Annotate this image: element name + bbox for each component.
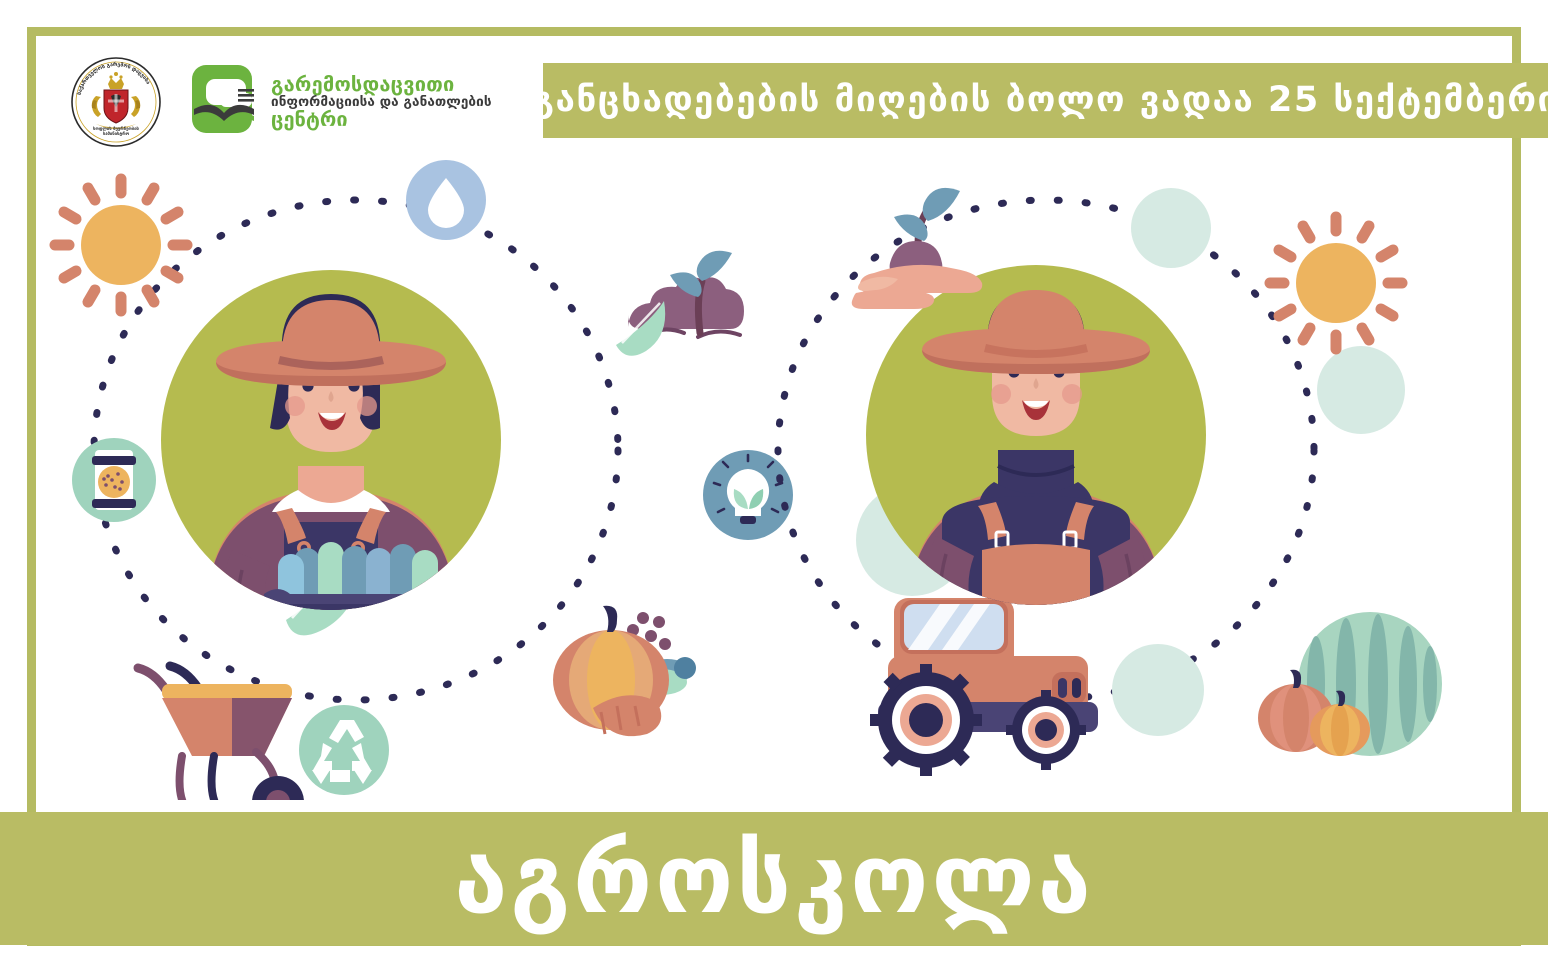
left-scene [55,160,793,800]
logo-line-3: ცენტრი [271,109,492,130]
poster-root: საქართველოს გარემოს დაცვისა სო [0,0,1548,973]
left-recycle-icon [299,705,389,795]
mint-circle-4 [1112,644,1204,736]
right-tractor-icon [870,598,1098,776]
title-banner: აგროსკოლა [0,812,1548,945]
right-hand-seedling-icon [852,188,982,309]
mint-circle-2 [1131,188,1211,268]
right-scene [778,188,1442,776]
right-sun-icon [1270,217,1402,349]
deadline-text: განცხადებების მიღების ბოლო ვადაა 25 სექტ… [532,83,1548,118]
branding-lockup: საქართველოს გარემოს დაცვისა სო [70,52,492,152]
environmental-center-logo: გარემოსდაცვითი ინფორმაციისა და განათლები… [190,63,492,141]
left-wheelbarrow-icon [138,666,304,800]
left-jar-icon [72,438,156,522]
svg-text:სამინისტრო: სამინისტრო [103,131,130,136]
deadline-banner: განცხადებების მიღების ბოლო ვადაა 25 სექტ… [543,63,1548,138]
poster-title: აგროსკოლა [454,831,1093,927]
right-watermelon-icon [1258,612,1442,756]
georgian-state-coat-of-arms-icon: საქართველოს გარემოს დაცვისა სო [70,56,162,148]
book-leaf-logo-icon [190,63,262,141]
left-sun-icon [55,179,187,311]
left-pumpkin-icon [553,606,696,736]
left-water-drop-icon [406,160,486,240]
illustration-area [36,150,1512,800]
left-eco-bulb-icon [703,450,793,540]
mint-circle-3 [1317,346,1405,434]
logo-line-1: გარემოსდაცვითი [271,74,492,95]
